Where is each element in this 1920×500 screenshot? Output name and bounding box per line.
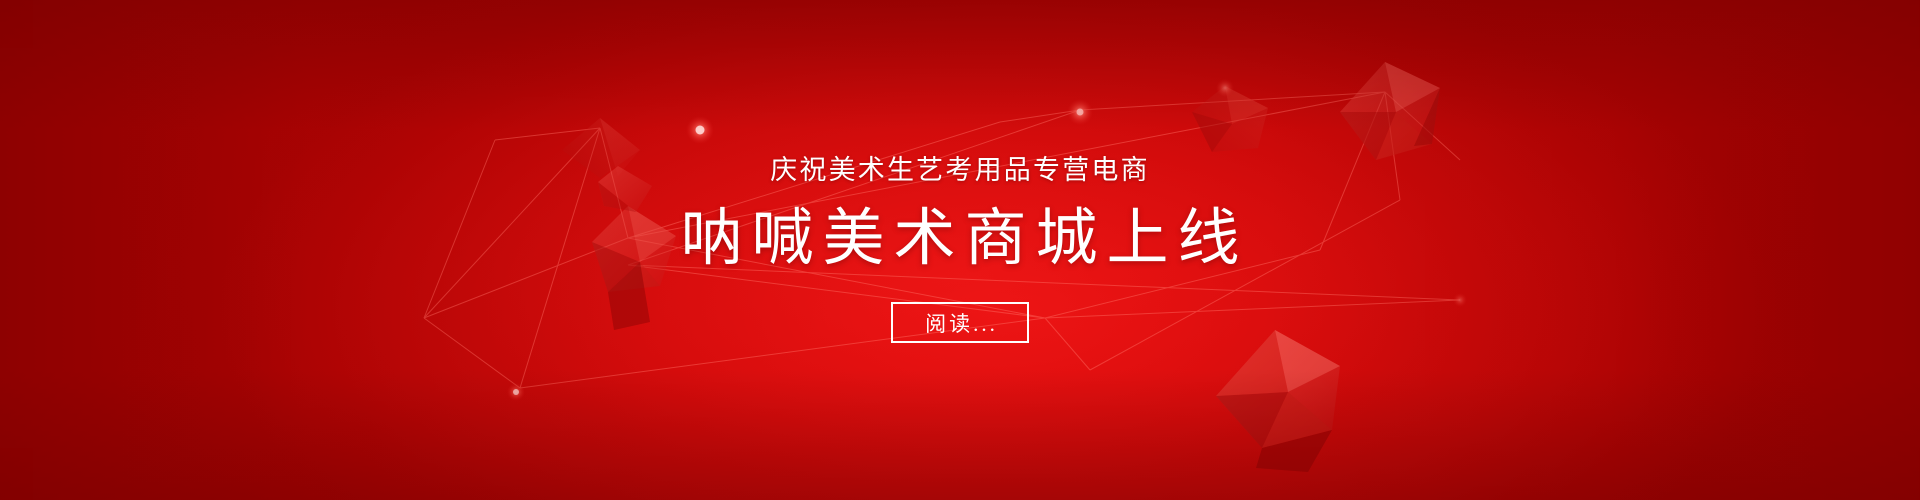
hero-banner: 庆祝美术生艺考用品专营电商 呐喊美术商城上线 阅读... — [0, 0, 1920, 500]
banner-content: 庆祝美术生艺考用品专营电商 呐喊美术商城上线 阅读... — [0, 0, 1920, 500]
read-more-button[interactable]: 阅读... — [891, 302, 1029, 343]
banner-subtitle: 庆祝美术生艺考用品专营电商 — [770, 157, 1150, 184]
banner-title: 呐喊美术商城上线 — [671, 208, 1248, 270]
